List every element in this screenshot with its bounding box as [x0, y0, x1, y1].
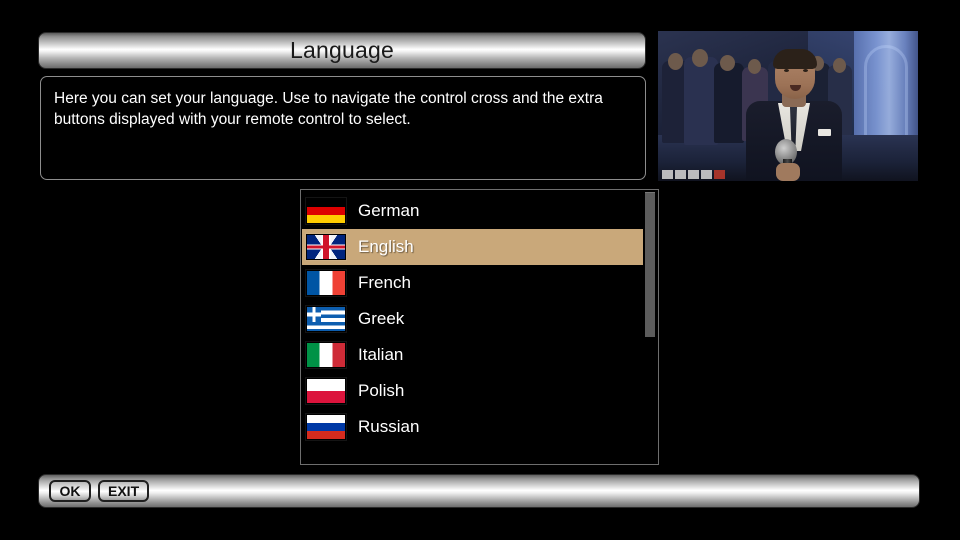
scrollbar[interactable] — [644, 192, 656, 464]
language-label: Italian — [358, 345, 403, 365]
news-channel-logo-icon — [662, 169, 736, 179]
flag-poland-icon — [306, 378, 346, 404]
preview-crowd-head — [692, 49, 708, 67]
preview-crowd-head — [748, 59, 761, 74]
language-list: German English French Greek Italian Poli — [302, 193, 643, 445]
preview-crowd-head — [833, 58, 846, 73]
preview-reporter-hair — [773, 49, 817, 69]
preview-crowd-head — [668, 53, 683, 70]
list-item-greek[interactable]: Greek — [302, 301, 643, 337]
logo-segment-accent — [714, 170, 725, 179]
flag-germany-icon — [306, 198, 346, 224]
language-label: English — [358, 237, 414, 257]
flag-france-icon — [306, 270, 346, 296]
list-item-italian[interactable]: Italian — [302, 337, 643, 373]
help-description-panel: Here you can set your language. Use to n… — [40, 76, 646, 180]
list-item-russian[interactable]: Russian — [302, 409, 643, 445]
language-label: Russian — [358, 417, 419, 437]
logo-segment — [688, 170, 699, 179]
flag-russia-icon — [306, 414, 346, 440]
logo-segment — [675, 170, 686, 179]
flag-italy-icon — [306, 342, 346, 368]
flag-united-kingdom-icon — [306, 234, 346, 260]
language-label: French — [358, 273, 411, 293]
bottom-action-bar: OK EXIT — [38, 474, 920, 508]
list-item-german[interactable]: German — [302, 193, 643, 229]
preview-crowd-figure — [684, 57, 718, 145]
ok-button[interactable]: OK — [49, 480, 91, 502]
preview-reporter-pocket-square — [818, 129, 831, 136]
list-item-polish[interactable]: Polish — [302, 373, 643, 409]
help-description-text: Here you can set your language. Use to n… — [54, 88, 632, 130]
window-title-bar: Language — [38, 32, 646, 69]
preview-reporter-eye — [803, 69, 808, 72]
language-label: Greek — [358, 309, 404, 329]
preview-crowd-figure — [714, 63, 744, 143]
list-item-english[interactable]: English — [302, 229, 643, 265]
preview-reporter-eye — [784, 69, 789, 72]
preview-crowd-head — [720, 55, 735, 71]
live-tv-preview[interactable] — [658, 31, 918, 181]
logo-segment — [701, 170, 712, 179]
language-label: German — [358, 201, 419, 221]
language-label: Polish — [358, 381, 404, 401]
flag-greece-icon — [306, 306, 346, 332]
scrollbar-thumb[interactable] — [645, 192, 655, 337]
list-item-french[interactable]: French — [302, 265, 643, 301]
page-title: Language — [290, 37, 394, 64]
preview-reporter-hand — [776, 163, 800, 181]
exit-button[interactable]: EXIT — [98, 480, 149, 502]
language-list-panel[interactable]: German English French Greek Italian Poli — [300, 189, 659, 465]
logo-segment — [662, 170, 673, 179]
tv-settings-screen: Language Here you can set your language.… — [0, 0, 960, 540]
